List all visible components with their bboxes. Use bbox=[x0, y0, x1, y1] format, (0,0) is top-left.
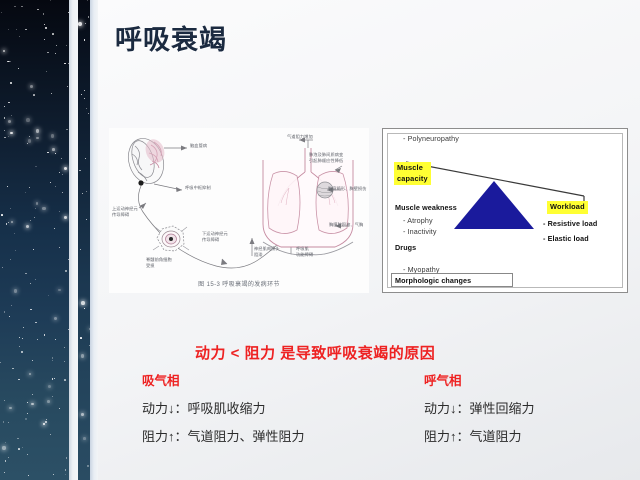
star-dot bbox=[1, 12, 2, 13]
star-dot bbox=[3, 50, 5, 52]
figure-label-brain: 脑血管病 bbox=[190, 143, 207, 149]
star-dot bbox=[1, 214, 3, 216]
star-dot bbox=[8, 120, 11, 123]
star-dot bbox=[27, 454, 28, 455]
star-dot bbox=[8, 422, 9, 423]
star-dot bbox=[29, 373, 32, 376]
star-dot bbox=[54, 378, 55, 379]
item-resistive-load: - Resistive load bbox=[543, 219, 597, 228]
star-dot bbox=[22, 338, 23, 339]
sidebar-divider-light-a bbox=[69, 0, 78, 480]
star-dot bbox=[84, 90, 85, 91]
star-dot bbox=[55, 339, 56, 340]
star-dot bbox=[28, 475, 29, 476]
star-dot bbox=[48, 295, 49, 296]
phase-title-inspiratory: 吸气相 bbox=[142, 370, 305, 389]
star-dot bbox=[5, 442, 6, 443]
star-dot bbox=[27, 413, 28, 414]
star-dot bbox=[86, 108, 87, 109]
star-dot bbox=[4, 311, 6, 313]
phase-title-expiratory: 呼气相 bbox=[424, 370, 535, 389]
star-dot bbox=[35, 322, 36, 323]
star-dot bbox=[83, 437, 86, 440]
star-dot bbox=[7, 186, 8, 187]
star-dot bbox=[81, 413, 84, 416]
item-drugs: Drugs bbox=[395, 243, 416, 252]
star-dot bbox=[25, 192, 26, 193]
star-dot bbox=[46, 71, 47, 72]
star-dot bbox=[80, 337, 82, 339]
inspiratory-driving-force: 动力↓：呼吸肌收缩力 bbox=[142, 398, 305, 417]
star-dot bbox=[35, 166, 36, 167]
column-inspiratory: 吸气相 动力↓：呼吸肌收缩力 阻力↑：气道阻力、弹性阻力 bbox=[142, 370, 305, 454]
item-polyneuropathy: - Polyneuropathy bbox=[403, 134, 459, 143]
star-dot bbox=[84, 98, 85, 99]
star-dot bbox=[52, 396, 53, 397]
star-dot bbox=[81, 354, 84, 357]
figure-label-chest: 胸廓畸形、胸壁损伤 bbox=[328, 186, 367, 192]
star-dot bbox=[36, 137, 38, 139]
page-title: 呼吸衰竭 bbox=[115, 18, 227, 57]
star-dot bbox=[22, 447, 23, 448]
star-dot bbox=[84, 308, 85, 309]
star-dot bbox=[51, 134, 54, 137]
star-dot bbox=[87, 465, 88, 466]
star-dot bbox=[84, 39, 85, 40]
star-dot bbox=[36, 202, 39, 205]
star-dot bbox=[78, 22, 82, 26]
star-dot bbox=[4, 400, 5, 401]
starfield-stripe bbox=[78, 0, 90, 480]
figure-pathogenesis: 脑血管病 呼吸中枢抑制 上运动神经元 传导障碍 脊髓前角细胞 受损 下运动神经元… bbox=[109, 128, 369, 293]
item-muscle-weakness: Muscle weakness bbox=[395, 203, 457, 212]
star-dot bbox=[0, 362, 1, 363]
star-dot bbox=[11, 115, 12, 116]
star-dot bbox=[21, 351, 22, 352]
star-dot bbox=[30, 309, 32, 311]
item-inactivity: - Inactivity bbox=[403, 227, 437, 236]
star-dot bbox=[10, 82, 11, 83]
star-dot bbox=[8, 222, 9, 223]
figure-label-pleural: 胸膜腔积液、气胸 bbox=[329, 222, 363, 228]
star-dot bbox=[31, 403, 33, 405]
slide-content-area: 呼吸衰竭 bbox=[98, 0, 640, 480]
star-dot bbox=[47, 52, 48, 53]
star-dot bbox=[58, 289, 61, 292]
star-dot bbox=[86, 191, 87, 192]
star-dot bbox=[8, 136, 9, 137]
star-dot bbox=[33, 249, 34, 250]
star-dot bbox=[64, 63, 65, 64]
item-morphologic-changes: Morphologic changes bbox=[395, 276, 471, 285]
star-dot bbox=[53, 474, 54, 475]
star-dot bbox=[80, 249, 81, 250]
figure-label-upper-motor: 上运动神经元 传导障碍 bbox=[112, 206, 138, 217]
star-dot bbox=[86, 219, 87, 220]
star-dot bbox=[33, 94, 35, 96]
star-dot bbox=[65, 474, 66, 475]
star-dot bbox=[27, 402, 28, 403]
star-dot bbox=[25, 418, 26, 419]
star-dot bbox=[50, 182, 51, 183]
star-dot bbox=[30, 283, 31, 284]
star-dot bbox=[9, 407, 11, 409]
star-dot bbox=[56, 45, 57, 46]
figure-balance: Muscle capacity Workload Muscle weakness… bbox=[382, 128, 628, 293]
star-dot bbox=[54, 228, 55, 229]
star-dot bbox=[27, 143, 28, 144]
star-dot bbox=[37, 339, 38, 340]
figure-label-center: 呼吸中枢抑制 bbox=[185, 185, 211, 191]
star-dot bbox=[55, 153, 56, 154]
star-dot bbox=[19, 36, 20, 37]
star-dot bbox=[81, 94, 82, 95]
star-dot bbox=[52, 360, 53, 361]
star-dot bbox=[54, 317, 57, 320]
star-dot bbox=[79, 170, 80, 171]
figure-label-lower-motor: 下运动神经元 传导障碍 bbox=[202, 231, 228, 242]
star-dot bbox=[35, 208, 36, 209]
star-dot bbox=[62, 192, 63, 193]
star-dot bbox=[47, 400, 50, 403]
star-dot bbox=[43, 423, 45, 425]
star-dot bbox=[12, 368, 14, 370]
star-dot bbox=[18, 68, 19, 69]
star-dot bbox=[45, 421, 46, 422]
figure-label-anterior-horn: 脊髓前角细胞 受损 bbox=[146, 257, 172, 268]
figure-balance-inner-frame: Muscle capacity Workload Muscle weakness… bbox=[387, 133, 623, 288]
star-dot bbox=[11, 305, 12, 306]
star-dot bbox=[4, 106, 6, 108]
star-dot bbox=[34, 217, 35, 218]
star-dot bbox=[44, 39, 45, 40]
star-dot bbox=[4, 130, 5, 131]
sidebar-divider-light-b bbox=[90, 0, 98, 480]
star-dot bbox=[67, 86, 68, 87]
figure-label-nmj: 神经肌肉接头 阻滞 bbox=[254, 246, 280, 257]
star-dot bbox=[8, 29, 9, 30]
star-dot bbox=[35, 279, 36, 280]
star-dot bbox=[65, 469, 66, 470]
star-dot bbox=[37, 9, 38, 10]
star-dot bbox=[19, 346, 20, 347]
item-elastic-load: - Elastic load bbox=[543, 234, 589, 243]
star-dot bbox=[88, 113, 89, 114]
star-dot bbox=[52, 148, 55, 151]
star-dot bbox=[61, 158, 62, 159]
star-dot bbox=[8, 102, 9, 103]
star-dot bbox=[50, 0, 51, 1]
presentation-slide: 呼吸衰竭 bbox=[0, 0, 640, 480]
star-dot bbox=[42, 207, 45, 210]
star-dot bbox=[52, 378, 53, 379]
star-dot bbox=[66, 129, 67, 130]
star-dot bbox=[18, 448, 20, 450]
star-dot bbox=[59, 172, 60, 173]
star-dot bbox=[26, 118, 30, 122]
star-dot bbox=[44, 24, 45, 25]
star-dot bbox=[14, 289, 17, 292]
star-dot bbox=[9, 316, 10, 317]
star-dot bbox=[19, 337, 20, 338]
star-dot bbox=[50, 434, 51, 435]
star-dot bbox=[2, 267, 3, 268]
star-dot bbox=[64, 216, 67, 219]
star-dot bbox=[55, 186, 56, 187]
star-dot bbox=[32, 394, 33, 395]
star-dot bbox=[64, 361, 65, 362]
star-dot bbox=[29, 187, 30, 188]
star-dot bbox=[28, 139, 31, 142]
star-dot bbox=[2, 446, 5, 449]
star-dot bbox=[8, 61, 9, 62]
star-dot bbox=[18, 379, 19, 380]
star-dot bbox=[48, 385, 51, 388]
star-dot bbox=[8, 457, 9, 458]
star-dot bbox=[45, 27, 46, 28]
star-dot bbox=[66, 45, 67, 46]
star-dot bbox=[64, 347, 65, 348]
workload-label: Workload bbox=[547, 201, 588, 214]
star-dot bbox=[5, 460, 6, 461]
star-dot bbox=[10, 132, 13, 135]
star-dot bbox=[59, 211, 60, 212]
star-dot bbox=[43, 13, 44, 14]
star-dot bbox=[23, 327, 24, 328]
star-dot bbox=[51, 93, 52, 94]
conclusion-headline: 动力 < 阻力 是导致呼吸衰竭的原因 bbox=[195, 342, 435, 363]
star-dot bbox=[30, 85, 33, 88]
star-dot bbox=[36, 129, 39, 132]
star-dot bbox=[64, 379, 66, 381]
star-dot bbox=[81, 301, 85, 305]
column-expiratory: 呼气相 动力↓：弹性回缩力 阻力↑：气道阻力 bbox=[424, 370, 535, 454]
star-dot bbox=[29, 136, 30, 137]
star-dot bbox=[4, 137, 5, 138]
star-dot bbox=[14, 233, 15, 234]
star-dot bbox=[44, 334, 45, 335]
star-dot bbox=[10, 61, 11, 62]
star-dot bbox=[26, 225, 29, 228]
star-dot bbox=[6, 223, 7, 224]
star-dot bbox=[3, 421, 5, 423]
inspiratory-resistance: 阻力↑：气道阻力、弹性阻力 bbox=[142, 426, 305, 445]
star-dot bbox=[25, 29, 26, 30]
star-dot bbox=[52, 33, 54, 35]
star-dot bbox=[15, 250, 16, 251]
star-dot bbox=[62, 174, 63, 175]
star-dot bbox=[59, 247, 60, 248]
figure-label-muscle: 呼吸肌 功能障碍 bbox=[296, 246, 313, 257]
star-dot bbox=[52, 357, 53, 358]
star-dot bbox=[64, 167, 67, 170]
star-dot bbox=[85, 23, 86, 24]
star-dot bbox=[4, 117, 5, 118]
star-dot bbox=[47, 152, 49, 154]
star-dot bbox=[65, 270, 66, 271]
item-atrophy: - Atrophy bbox=[403, 216, 433, 225]
star-dot bbox=[30, 220, 31, 221]
star-dot bbox=[25, 273, 26, 274]
figure-label-compliance: 肺泡及肺间质病变 引起肺顺应性降低 bbox=[309, 152, 343, 163]
star-dot bbox=[46, 419, 47, 420]
star-dot bbox=[66, 457, 67, 458]
star-dot bbox=[82, 193, 83, 194]
star-dot bbox=[59, 408, 60, 409]
figure-caption: 图 15-3 呼吸衰竭的发病环节 bbox=[109, 279, 369, 288]
star-dot bbox=[87, 0, 88, 1]
starfield-panel bbox=[0, 0, 69, 480]
muscle-capacity-label: Muscle capacity bbox=[394, 162, 431, 185]
star-dot bbox=[14, 6, 15, 7]
expiratory-resistance: 阻力↑：气道阻力 bbox=[424, 426, 535, 445]
star-dot bbox=[32, 360, 33, 361]
star-dot bbox=[85, 158, 86, 159]
star-dot bbox=[10, 208, 11, 209]
star-dot bbox=[11, 221, 13, 223]
star-dot bbox=[21, 6, 22, 7]
expiratory-driving-force: 动力↓：弹性回缩力 bbox=[424, 398, 535, 417]
figure-label-airway: 气道阻力增加 bbox=[287, 134, 313, 140]
star-dot bbox=[17, 438, 18, 439]
star-dot bbox=[10, 259, 11, 260]
star-dot bbox=[55, 53, 56, 54]
star-dot bbox=[16, 29, 17, 30]
star-dot bbox=[4, 472, 5, 473]
